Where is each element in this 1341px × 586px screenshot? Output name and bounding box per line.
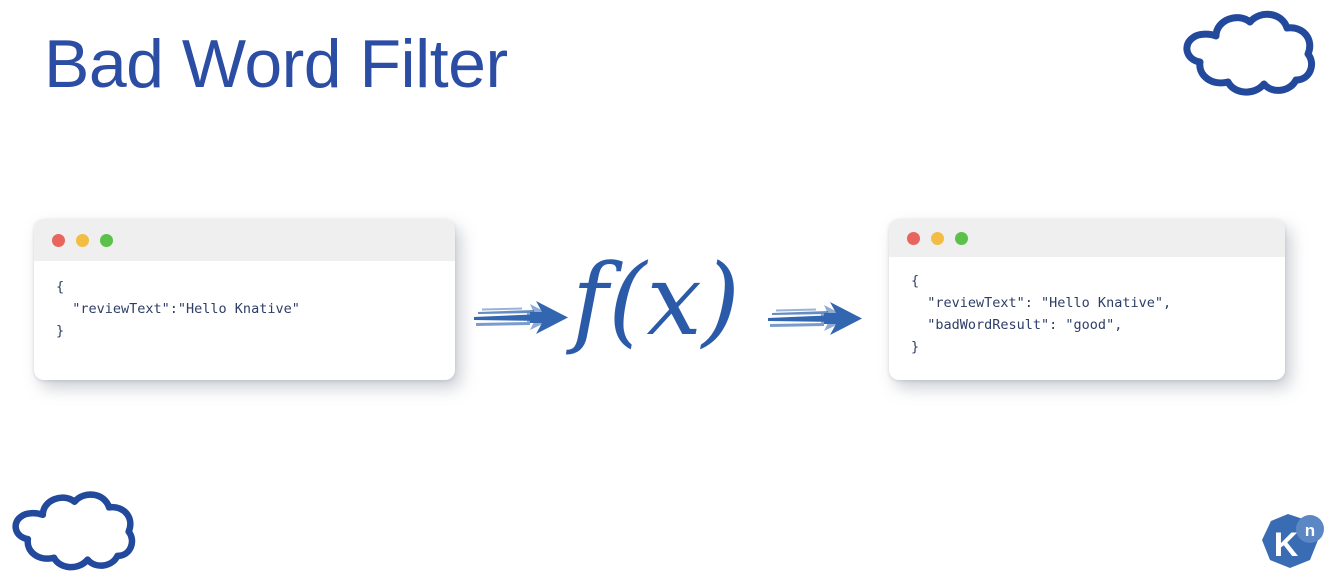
maximize-dot-icon[interactable] bbox=[955, 232, 968, 245]
knative-logo: K n bbox=[1258, 512, 1326, 580]
close-dot-icon[interactable] bbox=[907, 232, 920, 245]
knative-letter-n: n bbox=[1305, 521, 1315, 540]
output-json-window: { "reviewText": "Hello Knative", "badWor… bbox=[889, 219, 1285, 380]
input-json-window: { "reviewText":"Hello Knative" } bbox=[34, 219, 455, 380]
page-title: Bad Word Filter bbox=[44, 30, 508, 98]
function-label: f(x) bbox=[572, 252, 740, 350]
arrow-right-icon bbox=[766, 297, 864, 346]
cloud-icon bbox=[1168, 6, 1318, 111]
close-dot-icon[interactable] bbox=[52, 234, 65, 247]
maximize-dot-icon[interactable] bbox=[100, 234, 113, 247]
minimize-dot-icon[interactable] bbox=[76, 234, 89, 247]
output-json-code: { "reviewText": "Hello Knative", "badWor… bbox=[889, 257, 1285, 368]
minimize-dot-icon[interactable] bbox=[931, 232, 944, 245]
input-json-code: { "reviewText":"Hello Knative" } bbox=[34, 261, 455, 353]
arrow-right-icon bbox=[472, 296, 570, 345]
knative-letter-k: K bbox=[1274, 526, 1299, 564]
cloud-icon bbox=[0, 486, 138, 586]
window-titlebar bbox=[889, 219, 1285, 257]
window-titlebar bbox=[34, 219, 455, 261]
